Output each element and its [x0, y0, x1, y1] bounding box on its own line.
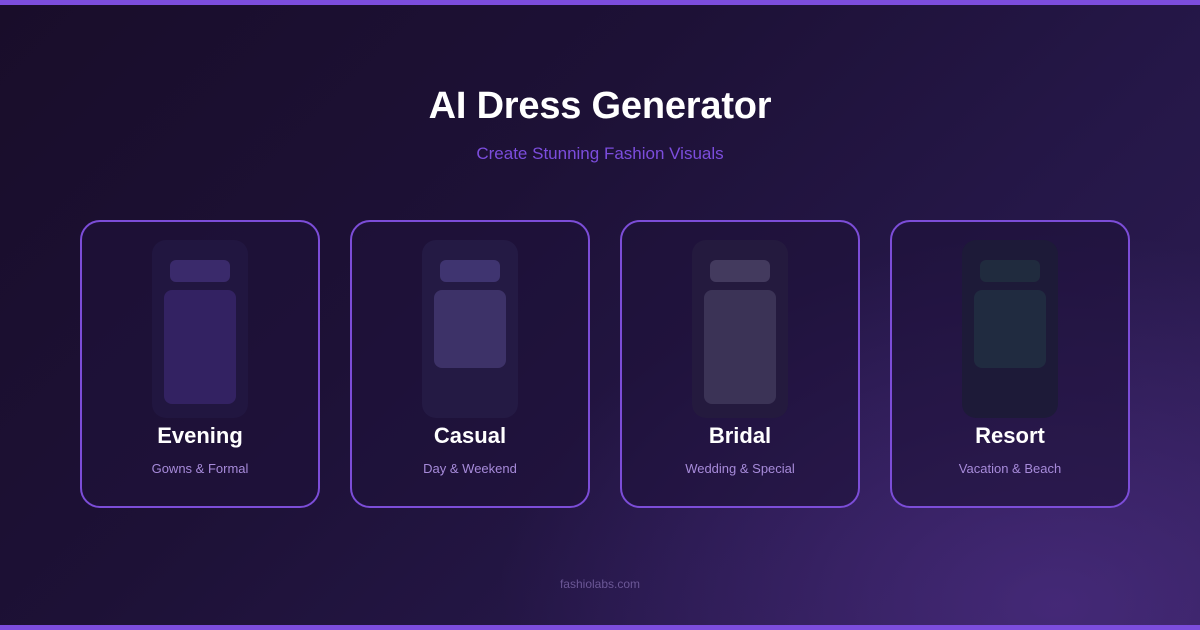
card-icon-wrapper [692, 240, 788, 418]
category-card-grid: EveningGowns & FormalCasualDay & Weekend… [80, 220, 1130, 508]
page-subtitle: Create Stunning Fashion Visuals [0, 143, 1200, 165]
card-icon-wrapper [962, 240, 1058, 418]
card-subtitle: Vacation & Beach [959, 460, 1061, 477]
dress-bodice-shape [710, 260, 770, 282]
card-title: Resort [975, 422, 1045, 450]
dress-bodice-shape [440, 260, 500, 282]
category-card[interactable]: ResortVacation & Beach [890, 220, 1130, 508]
page-title: AI Dress Generator [0, 84, 1200, 128]
dress-icon-bridal [692, 240, 788, 418]
card-icon-wrapper [422, 240, 518, 418]
footer-website: fashiolabs.com [0, 576, 1200, 592]
card-title: Casual [434, 422, 506, 450]
promo-banner: AI Dress Generator Create Stunning Fashi… [0, 0, 1200, 630]
category-card[interactable]: BridalWedding & Special [620, 220, 860, 508]
bottom-accent-bar [0, 625, 1200, 630]
card-title: Bridal [709, 422, 771, 450]
dress-skirt-shape [974, 290, 1046, 368]
header: AI Dress Generator Create Stunning Fashi… [0, 0, 1200, 165]
dress-icon-evening [152, 240, 248, 418]
dress-icon-casual [422, 240, 518, 418]
dress-skirt-shape [434, 290, 506, 368]
card-subtitle: Wedding & Special [685, 460, 795, 477]
category-card[interactable]: EveningGowns & Formal [80, 220, 320, 508]
dress-bodice-shape [980, 260, 1040, 282]
card-icon-wrapper [152, 240, 248, 418]
category-card[interactable]: CasualDay & Weekend [350, 220, 590, 508]
dress-skirt-shape [164, 290, 236, 404]
card-subtitle: Gowns & Formal [152, 460, 249, 477]
dress-icon-resort [962, 240, 1058, 418]
card-title: Evening [157, 422, 243, 450]
card-subtitle: Day & Weekend [423, 460, 517, 477]
dress-bodice-shape [170, 260, 230, 282]
dress-skirt-shape [704, 290, 776, 404]
